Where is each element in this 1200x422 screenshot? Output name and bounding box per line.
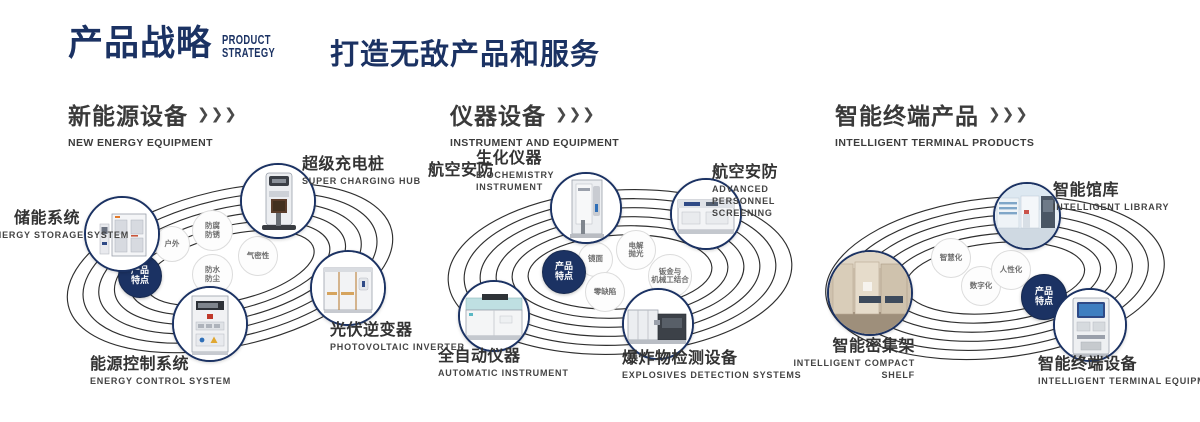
page-title-en: PRODUCT STRATEGY: [222, 33, 275, 60]
cluster-instrument: 镜面 电解 抛光 零缺陷 钣金与 机械工结合 产品 特点: [420, 150, 820, 385]
page-slogan: 打造无敌产品和服务: [330, 31, 600, 73]
control-cabinet-icon: [174, 288, 246, 360]
self-service-kiosk-icon: [1055, 290, 1125, 360]
node-intelligent-library[interactable]: [993, 182, 1061, 250]
chevron-right-icon: ❯❯❯: [988, 107, 1028, 122]
node-label-intelligent-compact-shelf: 智能密集架 INTELLIGENT COMPACT SHELF: [765, 338, 915, 382]
automatic-analyzer-icon: [460, 282, 528, 350]
node-photovoltaic-inverter[interactable]: [310, 250, 386, 326]
section-title-cn: 新能源设备: [68, 97, 188, 131]
node-biochemistry-instrument[interactable]: [550, 172, 622, 244]
page-title-cn: 产品战略: [68, 26, 212, 61]
section-title-en: INSTRUMENT AND EQUIPMENT: [450, 137, 619, 149]
poster-canvas: 产品战略 PRODUCT STRATEGY 打造无敌产品和服务 新能源设备 ❯❯…: [0, 0, 1200, 422]
feature-bubble: 防腐 防锈: [192, 210, 233, 251]
cluster-intelligent-terminal: 智慧化 数字化 人性化 产品 特点: [805, 160, 1200, 390]
node-intelligent-compact-shelf[interactable]: [827, 250, 913, 336]
compact-shelf-icon: [829, 252, 911, 334]
node-label-automatic-instrument: 全自动仪器 AUTOMATIC INSTRUMENT: [438, 348, 569, 380]
section-header-instrument: 仪器设备 ❯❯❯ INSTRUMENT AND EQUIPMENT: [450, 97, 619, 149]
node-energy-control-system[interactable]: [172, 286, 248, 362]
page-title-en-line1: PRODUCT: [222, 33, 275, 46]
feature-bubble: 气密性: [238, 236, 278, 276]
page-title: 产品战略 PRODUCT STRATEGY: [68, 26, 296, 61]
section-title-cn: 智能终端产品: [835, 97, 979, 131]
section-title-cn: 仪器设备: [450, 97, 546, 131]
node-label-energy-storage-system: 储能系统 ENERGY STORAGE SYSTEM: [0, 210, 80, 242]
cluster-new-energy: 户外 防腐 防锈 防水 防尘 气密性 产品 特点: [40, 150, 420, 380]
node-label-intelligent-library: 智能馆库 INTELLIGENT LIBRARY: [1053, 182, 1169, 214]
node-intelligent-terminal-equipment[interactable]: [1053, 288, 1127, 362]
section-title-en: INTELLIGENT TERMINAL PRODUCTS: [835, 137, 1034, 149]
node-label-advanced-personnel-screening: 航空安防 ADVANCED PERSONNEL SCREENING: [712, 164, 804, 219]
center-bubble-product-features: 产品 特点: [542, 250, 586, 294]
chevron-right-icon: ❯❯❯: [197, 107, 237, 122]
section-header-new-energy: 新能源设备 ❯❯❯ NEW ENERGY EQUIPMENT: [68, 97, 237, 149]
explosives-detector-icon: [624, 290, 692, 358]
chevron-right-icon: ❯❯❯: [555, 107, 595, 122]
node-label-super-charging-hub: 超级充电桩 SUPER CHARGING HUB: [302, 156, 421, 188]
node-label-intelligent-terminal-equipment: 智能终端设备 INTELLIGENT TERMINAL EQUIPMENT: [1038, 356, 1200, 388]
biochemistry-scanner-icon: [552, 174, 620, 242]
node-label-energy-control-system: 能源控制系统 ENERGY CONTROL SYSTEM: [90, 356, 231, 388]
section-title-en: NEW ENERGY EQUIPMENT: [68, 137, 237, 149]
library-room-icon: [995, 184, 1059, 248]
feature-bubble: 零缺陷: [585, 272, 625, 312]
section-header-intelligent-terminal: 智能终端产品 ❯❯❯ INTELLIGENT TERMINAL PRODUCTS: [835, 97, 1034, 149]
node-label-biochemistry-instrument: 生化仪器 BIOCHEMISTRY INSTRUMENT: [476, 150, 560, 194]
page-title-en-line2: STRATEGY: [222, 46, 275, 59]
node-automatic-instrument[interactable]: [458, 280, 530, 352]
inverter-cabinet-icon: [312, 252, 384, 324]
